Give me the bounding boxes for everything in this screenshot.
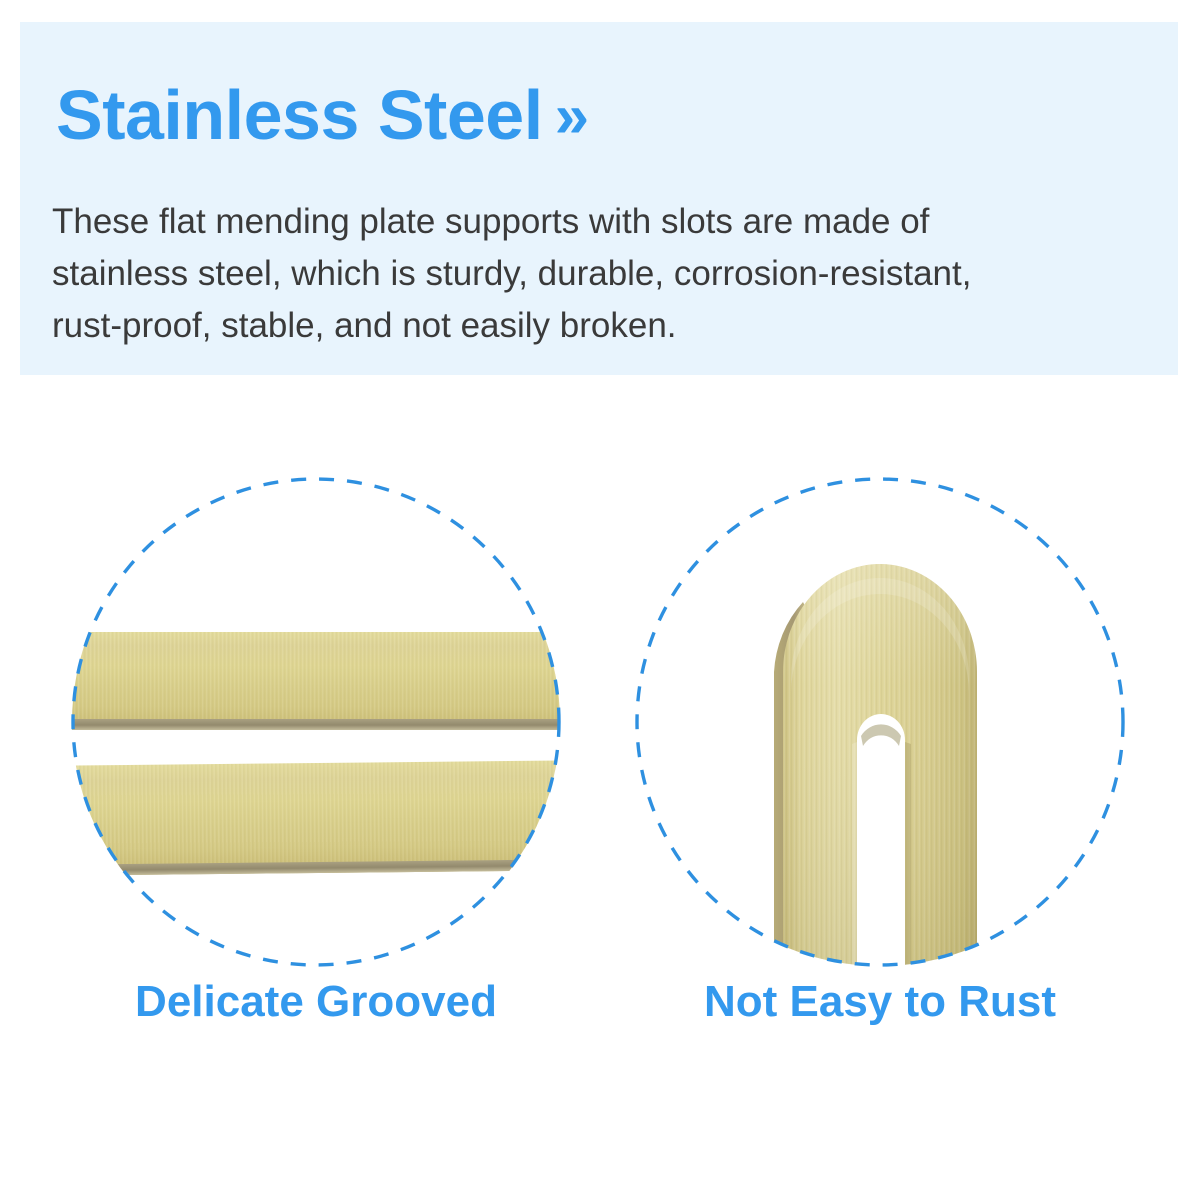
- feature-not-easy-to-rust: Not Easy to Rust: [580, 455, 1180, 1075]
- feature-caption-delicate-grooved: Delicate Grooved: [16, 977, 616, 1027]
- description-line-3: rust-proof, stable, and not easily broke…: [52, 300, 1172, 352]
- description-line-1: These flat mending plate supports with s…: [52, 196, 1172, 248]
- double-chevron-right-icon: »: [543, 80, 581, 154]
- feature-image-not-easy-to-rust: [635, 477, 1125, 967]
- page-title-text: Stainless Steel: [56, 76, 543, 154]
- feature-caption-not-easy-to-rust: Not Easy to Rust: [580, 977, 1180, 1027]
- dashed-circle-outline: [635, 477, 1125, 967]
- page-title: Stainless Steel»: [56, 78, 581, 154]
- feature-image-delicate-grooved: [71, 477, 561, 967]
- feature-delicate-grooved: Delicate Grooved: [16, 455, 616, 1075]
- description-line-2: stainless steel, which is sturdy, durabl…: [52, 248, 1172, 300]
- stainless-steel-banner: Stainless Steel» These flat mending plat…: [20, 22, 1178, 375]
- dashed-circle-outline: [71, 477, 561, 967]
- product-description: These flat mending plate supports with s…: [52, 196, 1172, 352]
- feature-row: Delicate Grooved: [0, 455, 1200, 1075]
